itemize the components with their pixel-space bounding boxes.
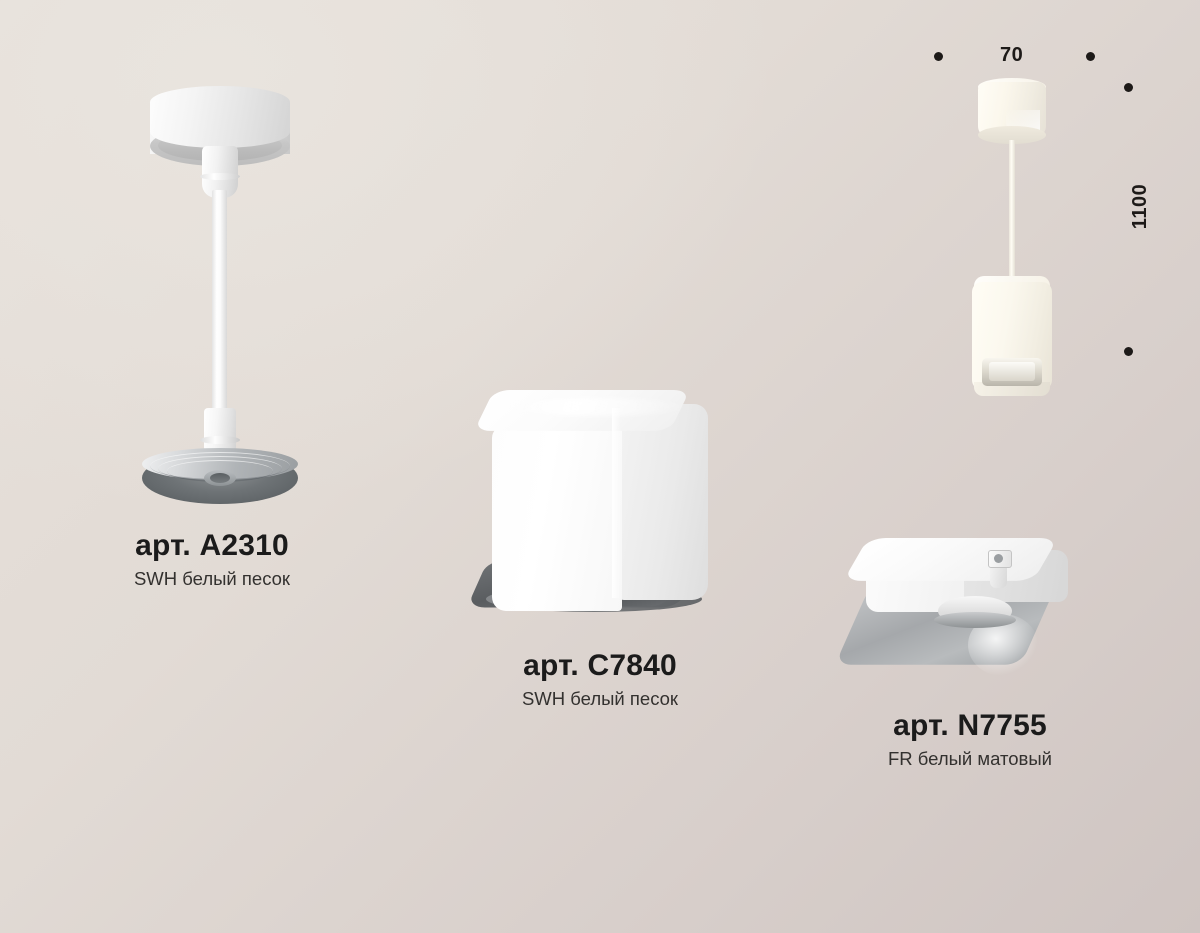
product-label-a2310: арт. A2310 SWH белый песок — [32, 530, 392, 591]
product-image-a2310 — [120, 78, 320, 518]
dimension-marker-width-left — [934, 52, 943, 61]
lamp-module-ring — [934, 612, 1016, 628]
lamp-socket-ring — [200, 436, 240, 444]
housing-face-right — [618, 404, 708, 600]
dimension-marker-width-right — [1086, 52, 1095, 61]
preview-suspension-cord — [1009, 140, 1015, 288]
product-image-c7840 — [480, 390, 720, 640]
housing-edge-highlight — [612, 408, 621, 598]
product-label-c7840: арт. C7840 SWH белый песок — [420, 650, 780, 711]
frame-top — [843, 538, 1058, 581]
housing-face-left — [492, 426, 622, 611]
product-image-n7755 — [858, 538, 1078, 688]
dimension-marker-drop-top — [1124, 83, 1133, 92]
heatsink-hub-bore — [210, 473, 230, 483]
dimension-marker-drop-bottom — [1124, 347, 1133, 356]
cable-gland-ring — [200, 173, 240, 180]
connector-stem — [990, 566, 1007, 588]
product-finish-n7755: FR белый матовый — [790, 747, 1150, 772]
product-code-a2310: арт. A2310 — [32, 530, 392, 562]
product-composition-canvas: арт. A2310 SWH белый песок арт. C7840 SW… — [0, 0, 1200, 933]
product-label-n7755: арт. N7755 FR белый матовый — [790, 710, 1150, 771]
assembled-pendant-preview — [948, 82, 1078, 412]
product-finish-c7840: SWH белый песок — [420, 687, 780, 712]
product-code-c7840: арт. C7840 — [420, 650, 780, 682]
connector-socket-icon — [994, 554, 1003, 563]
product-code-n7755: арт. N7755 — [790, 710, 1150, 742]
canopy-top — [150, 86, 290, 148]
preview-lens-glass — [989, 362, 1035, 381]
dimension-value-width: 70 — [1000, 44, 1023, 67]
dimension-value-drop: 1100 — [1129, 184, 1152, 229]
housing-top-highlight — [508, 398, 688, 416]
product-finish-a2310: SWH белый песок — [32, 567, 392, 592]
suspension-rod — [212, 190, 227, 418]
